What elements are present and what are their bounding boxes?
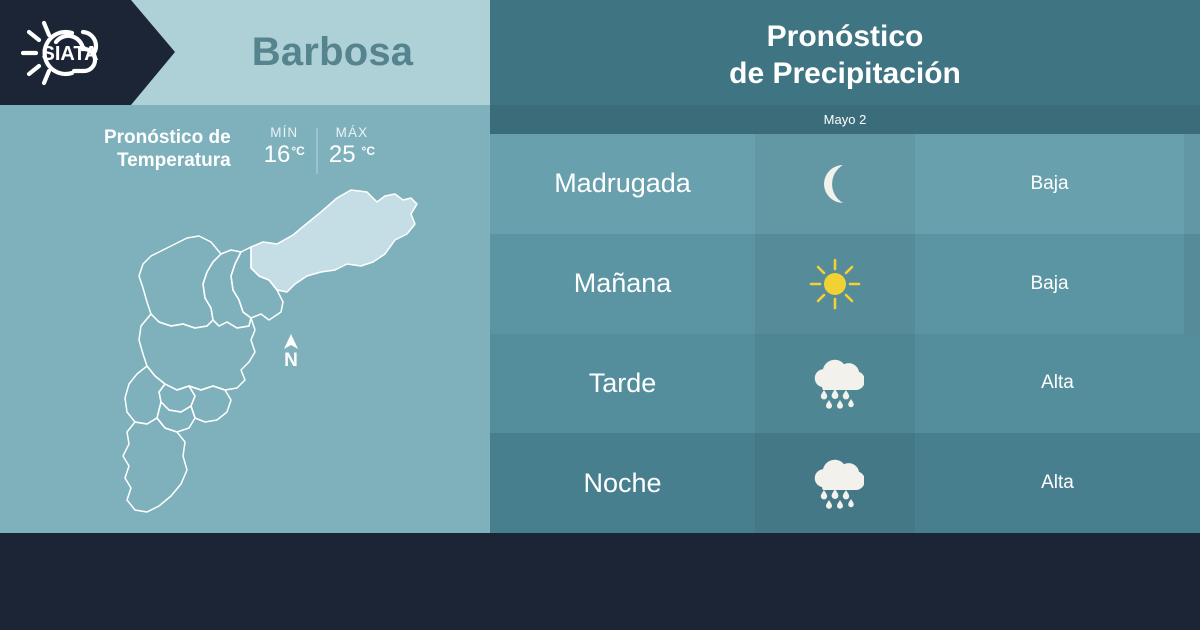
- period-label: Madrugada: [490, 168, 755, 199]
- right-panel: Pronóstico de Precipitación Mayo 2 Madru…: [490, 0, 1200, 533]
- row-edge-pad: [1184, 234, 1200, 334]
- precipitation-level: Alta: [915, 472, 1200, 494]
- precipitation-title-line1: Pronóstico: [767, 18, 924, 55]
- temperature-block: Pronóstico de Temperatura MÍN 16 °C MÁX …: [0, 118, 490, 180]
- min-label: MÍN: [270, 125, 298, 140]
- max-unit: °C: [362, 144, 375, 158]
- compass-north: N: [278, 332, 304, 374]
- precipitation-title-line2: de Precipitación: [729, 55, 961, 92]
- rain-cloud-icon: [806, 455, 864, 511]
- city-name: Barbosa: [175, 0, 490, 105]
- temperature-title-line1: Pronóstico de: [104, 126, 231, 149]
- weather-forecast-infographic: SIATA Barbosa Pronóstico de Temperatura …: [0, 0, 1200, 630]
- svg-text:SIATA: SIATA: [41, 43, 98, 65]
- min-temperature: MÍN 16 °C: [253, 125, 316, 169]
- aburra-valley-map: [55, 180, 455, 528]
- max-temperature: MÁX 25 °C: [318, 125, 386, 169]
- forecast-row-tarde[interactable]: Tarde Alta: [490, 334, 1200, 434]
- precipitation-title: Pronóstico de Precipitación: [490, 6, 1200, 104]
- weather-icon-cell: [755, 433, 915, 533]
- weather-icon-cell: [755, 234, 915, 334]
- temperature-title: Pronóstico de Temperatura: [104, 126, 231, 172]
- compass-label: N: [284, 351, 298, 370]
- min-value-row: 16 °C: [264, 141, 305, 169]
- weather-icon-cell: [755, 134, 915, 234]
- precipitation-level: Alta: [915, 372, 1200, 394]
- moon-icon: [810, 159, 860, 209]
- forecast-rows: Madrugada Baja Mañana: [490, 134, 1200, 533]
- max-value: 25: [329, 141, 356, 169]
- forecast-row-manana[interactable]: Mañana: [490, 234, 1200, 334]
- max-value-row: 25 °C: [329, 141, 375, 169]
- period-label: Tarde: [490, 368, 755, 399]
- left-panel: SIATA Barbosa Pronóstico de Temperatura …: [0, 0, 490, 533]
- forecast-date: Mayo 2: [824, 112, 867, 127]
- map-region-barbosa: [251, 190, 417, 292]
- date-bar: Mayo 2: [490, 105, 1200, 134]
- min-max-divider: [316, 128, 318, 174]
- forecast-row-noche[interactable]: Noche Alta: [490, 433, 1200, 533]
- sun-cloud-icon: SIATA: [14, 14, 124, 92]
- weather-icon-cell: [755, 334, 915, 434]
- forecast-row-madrugada[interactable]: Madrugada Baja: [490, 134, 1200, 234]
- precipitation-level: Baja: [915, 173, 1184, 195]
- temperature-title-line2: Temperatura: [104, 149, 231, 172]
- min-unit: °C: [291, 144, 304, 158]
- footer: @siatamedellin www.siata.gov.co Con el a…: [0, 533, 1200, 630]
- period-label: Noche: [490, 468, 755, 499]
- period-label: Mañana: [490, 268, 755, 299]
- rain-cloud-icon: [806, 355, 864, 411]
- min-value: 16: [264, 141, 291, 169]
- min-max-group: MÍN 16 °C MÁX 25 °C: [253, 125, 386, 174]
- row-edge-pad: [1184, 134, 1200, 234]
- sun-icon: [807, 256, 863, 312]
- max-label: MÁX: [336, 125, 369, 140]
- north-arrow-icon: [281, 332, 301, 352]
- precipitation-level: Baja: [915, 273, 1184, 295]
